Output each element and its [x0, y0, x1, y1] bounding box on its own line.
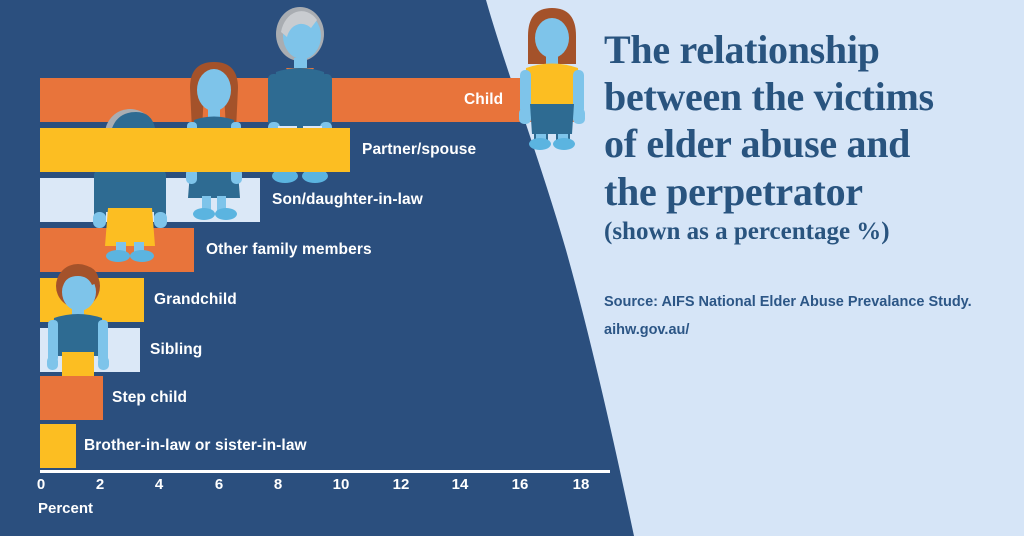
bar-label-grandchild: Grandchild	[154, 278, 237, 322]
x-axis-line	[40, 470, 610, 473]
page-title: The relationship between the victims of …	[604, 26, 1004, 215]
x-tick-16: 16	[512, 476, 529, 493]
x-tick-4: 4	[155, 476, 163, 493]
infographic-canvas: Child Partner/spouse Son/daughter-in-law…	[0, 0, 1024, 536]
title-line-4: the perpetrator	[604, 168, 1004, 215]
bar-label-other-family-members: Other family members	[206, 228, 372, 272]
x-tick-12: 12	[393, 476, 410, 493]
title-line-1: The relationship	[604, 26, 1004, 73]
title-block: The relationship between the victims of …	[604, 26, 1004, 247]
x-tick-8: 8	[274, 476, 282, 493]
bar-label-step-child: Step child	[112, 376, 187, 420]
bar-label-sibling: Sibling	[150, 328, 202, 372]
bar-label-son-daughter-in-law: Son/daughter-in-law	[272, 178, 423, 222]
page-subtitle: (shown as a percentage %)	[604, 217, 1004, 247]
title-line-3: of elder abuse and	[604, 120, 1004, 167]
person-young-woman	[512, 4, 592, 150]
x-tick-10: 10	[333, 476, 350, 493]
x-tick-14: 14	[452, 476, 469, 493]
bar-label-child: Child	[464, 78, 503, 122]
bar-label-brother-sister-in-law: Brother-in-law or sister-in-law	[84, 424, 307, 468]
title-line-2: between the victims	[604, 73, 1004, 120]
source-block: Source: AIFS National Elder Abuse Preval…	[604, 288, 1024, 345]
x-tick-6: 6	[215, 476, 223, 493]
source-link[interactable]: aihw.gov.au/	[604, 316, 1024, 344]
bar-label-partner-spouse: Partner/spouse	[362, 128, 476, 172]
source-line-1: Source: AIFS National Elder Abuse Preval…	[604, 288, 1024, 316]
x-tick-18: 18	[573, 476, 590, 493]
bar-partner-spouse	[40, 128, 350, 172]
x-axis-title: Percent	[38, 500, 93, 517]
x-tick-0: 0	[37, 476, 45, 493]
x-tick-2: 2	[96, 476, 104, 493]
bar-brother-sister-in-law	[40, 424, 76, 468]
bar-step-child	[40, 376, 103, 420]
